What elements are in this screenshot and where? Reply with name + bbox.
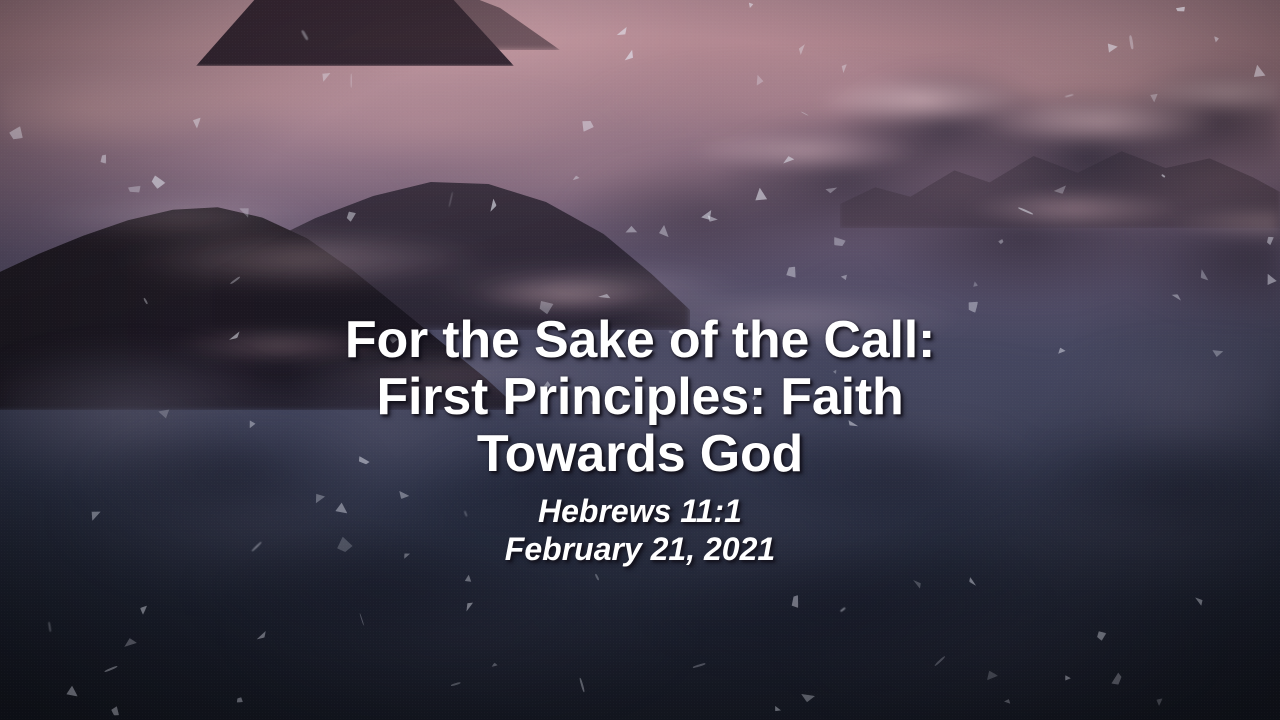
title-line-3: Towards God — [60, 426, 1220, 483]
subtitle-text-block: Hebrews 11:1 February 21, 2021 — [60, 492, 1220, 568]
title-line-1: For the Sake of the Call: — [60, 312, 1220, 369]
title-line-2: First Principles: Faith — [60, 369, 1220, 426]
title-text-block: For the Sake of the Call: First Principl… — [0, 312, 1280, 568]
sermon-title-slide: For the Sake of the Call: First Principl… — [0, 0, 1280, 720]
scripture-reference: Hebrews 11:1 — [60, 492, 1220, 530]
sermon-date: February 21, 2021 — [60, 530, 1220, 568]
